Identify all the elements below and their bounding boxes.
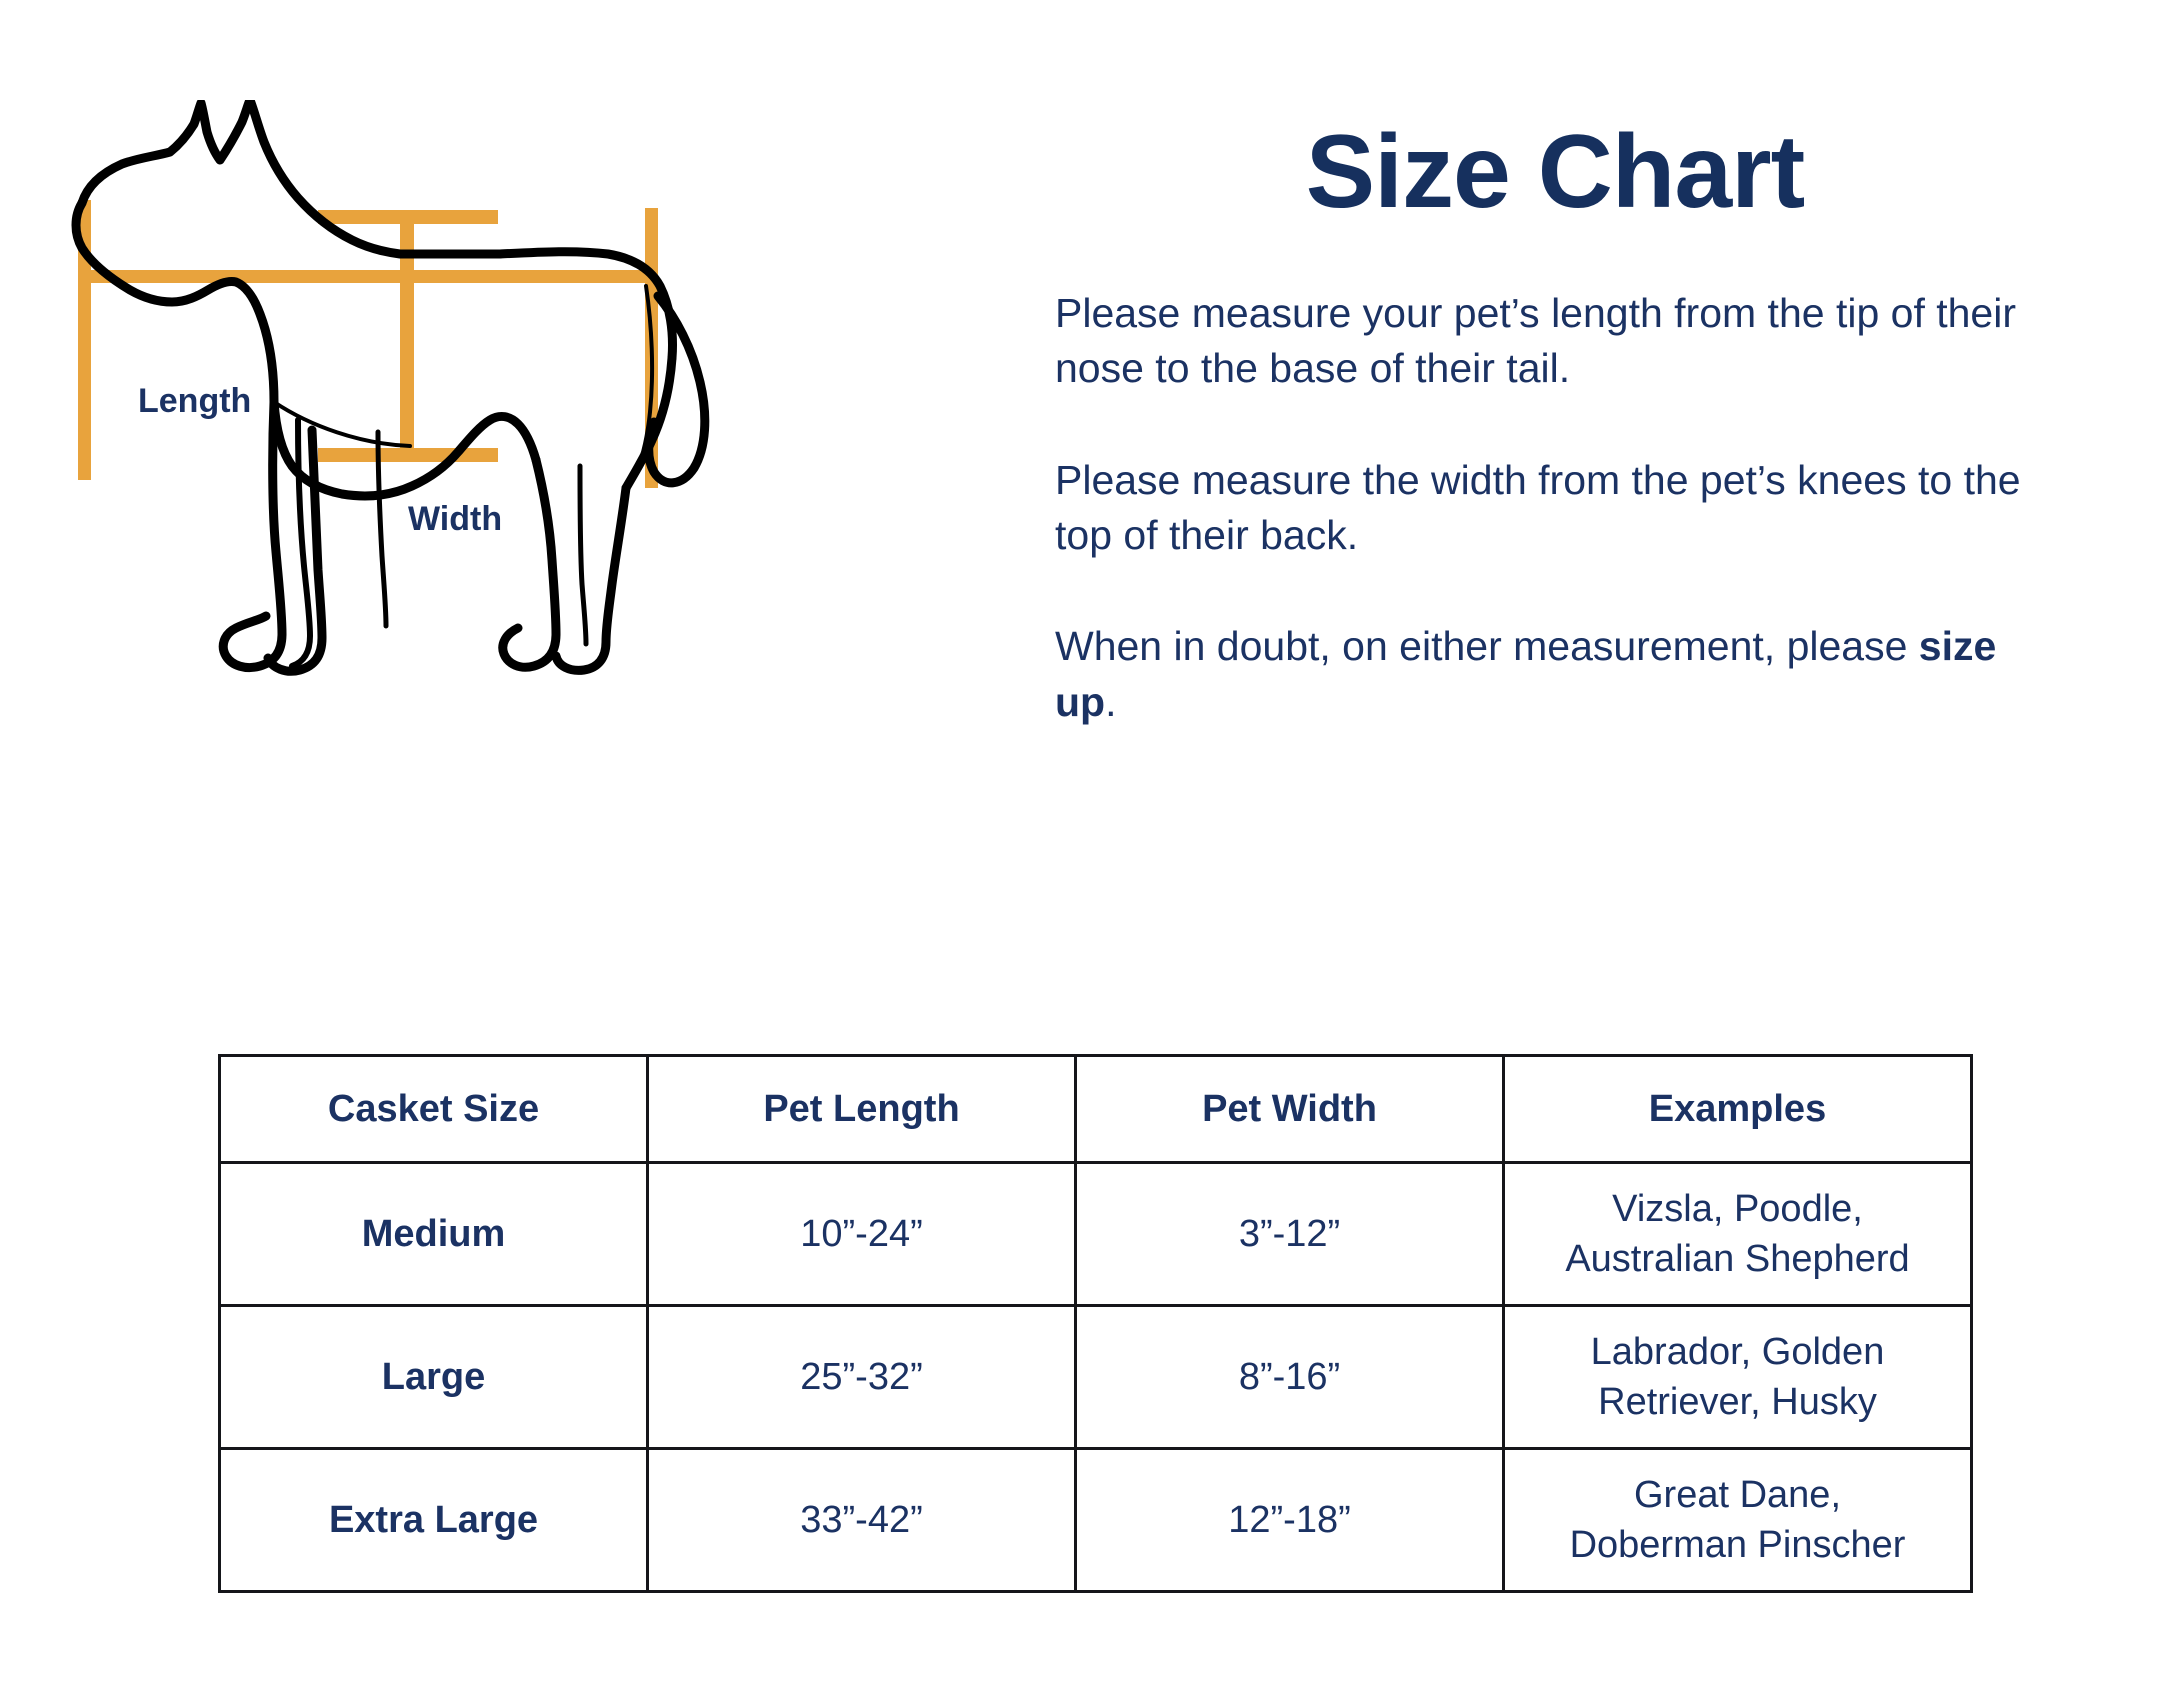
cell-examples-medium: Vizsla, Poodle, Australian Shepherd [1504, 1163, 1972, 1306]
example-line: Australian Shepherd [1565, 1238, 1909, 1280]
cell-length-extra-large: 33”-42” [648, 1449, 1076, 1592]
top-section: Length Width Size Chart Please measure y… [0, 0, 2184, 1020]
length-label: Length [138, 382, 251, 421]
size-up-note-suffix: . [1105, 679, 1116, 725]
column-header-casket-size: Casket Size [220, 1056, 648, 1163]
example-line: Great Dane, [1634, 1474, 1841, 1516]
column-header-examples: Examples [1504, 1056, 1972, 1163]
cell-length-medium: 10”-24” [648, 1163, 1076, 1306]
dog-measurement-diagram: Length Width [60, 100, 1020, 840]
measure-length-instruction: Please measure your pet’s length from th… [1055, 286, 2055, 397]
example-line: Doberman Pinscher [1570, 1524, 1906, 1566]
dog-diagram-svg [60, 100, 1020, 840]
example-line: Vizsla, Poodle, [1612, 1188, 1863, 1230]
cell-size-extra-large: Extra Large [220, 1449, 648, 1592]
column-header-pet-length: Pet Length [648, 1056, 1076, 1163]
width-label: Width [408, 500, 502, 539]
example-line: Labrador, Golden [1591, 1331, 1885, 1373]
size-up-note: When in doubt, on either measurement, pl… [1055, 619, 2055, 730]
width-measure-marks [318, 210, 498, 462]
cell-size-medium: Medium [220, 1163, 648, 1306]
table-row: Large 25”-32” 8”-16” Labrador, Golden Re… [220, 1306, 1972, 1449]
table-body: Medium 10”-24” 3”-12” Vizsla, Poodle, Au… [220, 1163, 1972, 1592]
table-row: Medium 10”-24” 3”-12” Vizsla, Poodle, Au… [220, 1163, 1972, 1306]
cell-width-medium: 3”-12” [1076, 1163, 1504, 1306]
cell-width-large: 8”-16” [1076, 1306, 1504, 1449]
example-line: Retriever, Husky [1598, 1381, 1877, 1423]
size-table-container: Casket Size Pet Length Pet Width Example… [218, 1054, 1970, 1593]
size-up-note-prefix: When in doubt, on either measurement, pl… [1055, 623, 1919, 669]
cell-length-large: 25”-32” [648, 1306, 1076, 1449]
table-row: Extra Large 33”-42” 12”-18” Great Dane, … [220, 1449, 1972, 1592]
size-table: Casket Size Pet Length Pet Width Example… [218, 1054, 1973, 1593]
table-header: Casket Size Pet Length Pet Width Example… [220, 1056, 1972, 1163]
cell-size-large: Large [220, 1306, 648, 1449]
page-title: Size Chart [1055, 120, 2055, 224]
cell-width-extra-large: 12”-18” [1076, 1449, 1504, 1592]
column-header-pet-width: Pet Width [1076, 1056, 1504, 1163]
cell-examples-large: Labrador, Golden Retriever, Husky [1504, 1306, 1972, 1449]
cell-examples-extra-large: Great Dane, Doberman Pinscher [1504, 1449, 1972, 1592]
info-panel: Size Chart Please measure your pet’s len… [1055, 120, 2055, 730]
table-header-row: Casket Size Pet Length Pet Width Example… [220, 1056, 1972, 1163]
measure-width-instruction: Please measure the width from the pet’s … [1055, 453, 2055, 564]
